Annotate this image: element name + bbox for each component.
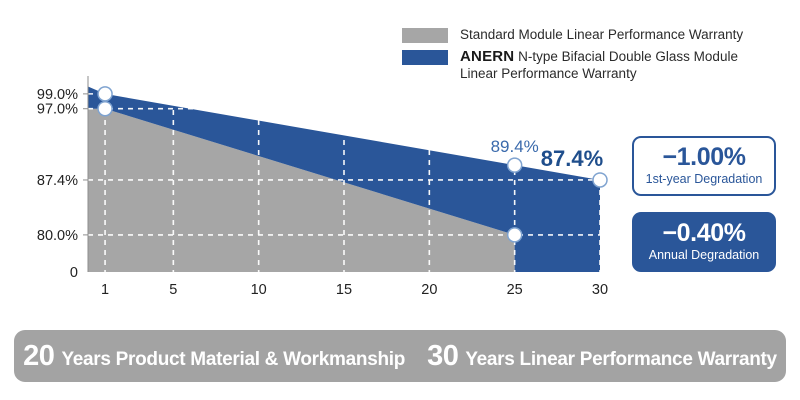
- svg-text:10: 10: [251, 282, 267, 298]
- banner-right-number: 30: [427, 340, 458, 373]
- y-axis-tick-labels: 99.0%97.0%87.4%80.0%0: [37, 87, 88, 281]
- degradation-chart: 99.0%97.0%87.4%80.0%0 151015202530 89.4%…: [0, 60, 640, 305]
- svg-text:15: 15: [336, 282, 352, 298]
- callout-first-year-caption: 1st-year Degradation: [634, 171, 774, 187]
- callout-first-year-value: −1.00%: [634, 143, 774, 171]
- banner-segment-product-material: 20 Years Product Material & Workmanship: [23, 340, 405, 373]
- svg-text:25: 25: [507, 282, 523, 298]
- svg-text:87.4%: 87.4%: [541, 146, 603, 171]
- banner-left-text: Years Product Material & Workmanship: [61, 349, 405, 371]
- svg-text:89.4%: 89.4%: [491, 137, 539, 156]
- svg-text:87.4%: 87.4%: [37, 173, 78, 189]
- x-axis-tick-labels: 151015202530: [101, 282, 608, 298]
- banner-segment-linear-performance: 30 Years Linear Performance Warranty: [427, 340, 777, 373]
- legend-label-standard: Standard Module Linear Performance Warra…: [460, 26, 743, 43]
- banner-left-number: 20: [23, 340, 54, 373]
- svg-text:0: 0: [70, 265, 78, 281]
- banner-right-text: Years Linear Performance Warranty: [465, 349, 777, 371]
- svg-text:97.0%: 97.0%: [37, 102, 78, 118]
- callout-annual-caption: Annual Degradation: [634, 247, 774, 263]
- svg-text:1: 1: [101, 282, 109, 298]
- callout-annual-degradation: −0.40% Annual Degradation: [632, 212, 776, 272]
- svg-text:30: 30: [592, 282, 608, 298]
- warranty-infographic: Standard Module Linear Performance Warra…: [0, 0, 800, 400]
- legend-swatch-standard-icon: [402, 28, 448, 43]
- svg-text:80.0%: 80.0%: [37, 228, 78, 244]
- callout-first-year-degradation: −1.00% 1st-year Degradation: [632, 136, 776, 196]
- warranty-banner: 20 Years Product Material & Workmanship …: [14, 330, 786, 382]
- svg-text:20: 20: [421, 282, 437, 298]
- svg-text:99.0%: 99.0%: [37, 87, 78, 103]
- callout-annual-value: −0.40%: [634, 219, 774, 247]
- chart-svg: 99.0%97.0%87.4%80.0%0 151015202530 89.4%…: [0, 60, 640, 305]
- svg-text:5: 5: [169, 282, 177, 298]
- legend-item-standard: Standard Module Linear Performance Warra…: [402, 26, 792, 43]
